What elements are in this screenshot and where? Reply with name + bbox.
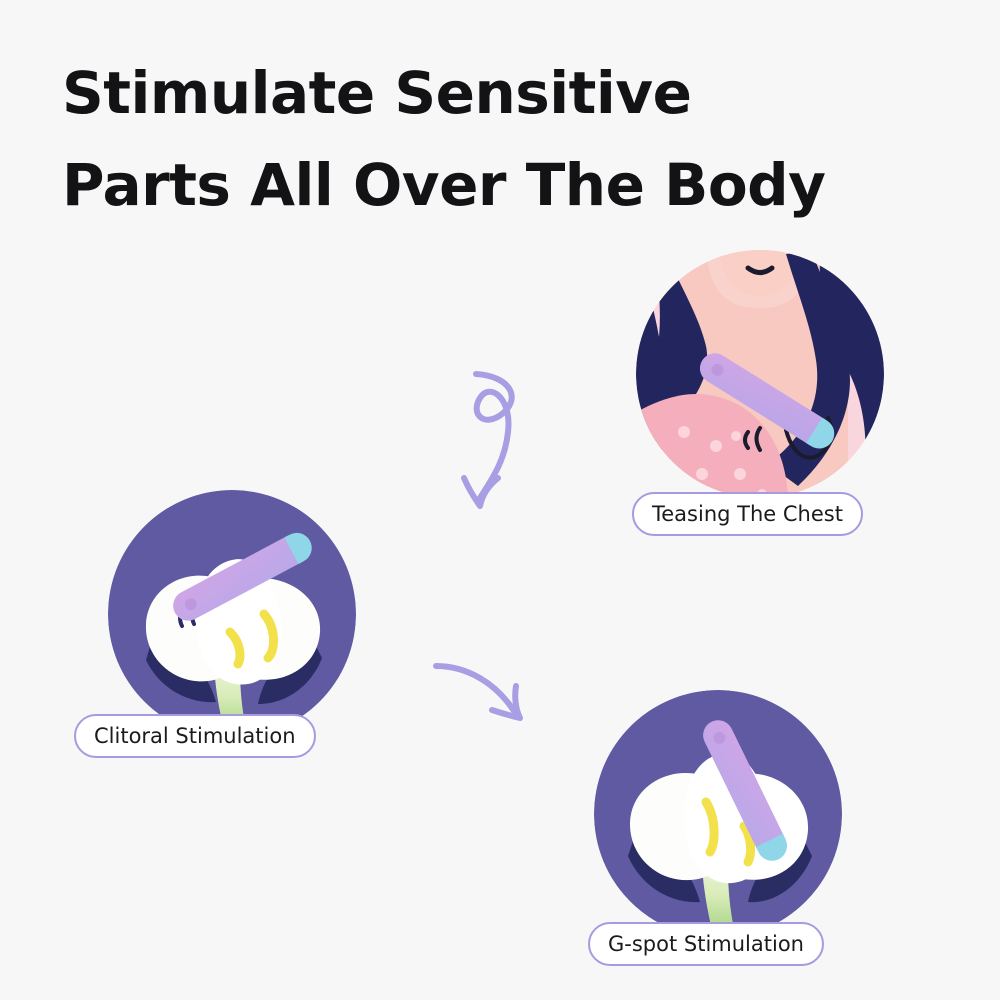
illustration-teasing-the-chest [636, 250, 884, 498]
curved-arrow-down-icon [440, 370, 560, 520]
curved-arrow-down-right-icon [430, 660, 560, 750]
page-title-line-2: Parts All Over The Body [62, 140, 942, 232]
page-title: Stimulate Sensitive Parts All Over The B… [62, 48, 942, 231]
calla-lily-flower-illustration [594, 690, 842, 938]
caption-clitoral-stimulation[interactable]: Clitoral Stimulation [74, 714, 316, 758]
calla-lily-flower-illustration [108, 490, 356, 738]
illustration-clitoral-stimulation [108, 490, 356, 738]
page-title-line-1: Stimulate Sensitive [62, 48, 942, 140]
poster-canvas: Stimulate Sensitive Parts All Over The B… [0, 0, 1000, 1000]
woman-chest-illustration [636, 250, 884, 498]
caption-g-spot-stimulation[interactable]: G-spot Stimulation [588, 922, 824, 966]
caption-teasing-the-chest[interactable]: Teasing The Chest [632, 492, 863, 536]
illustration-g-spot-stimulation [594, 690, 842, 938]
